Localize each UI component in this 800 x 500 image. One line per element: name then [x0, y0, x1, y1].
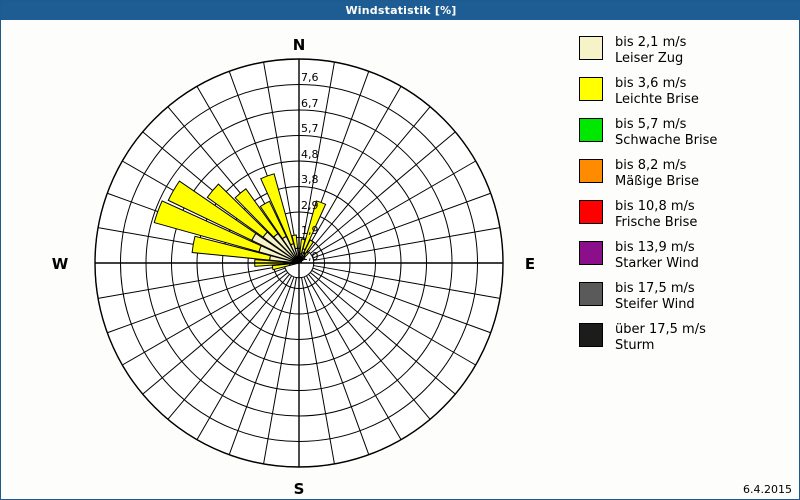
date-stamp: 6.4.2015 — [743, 483, 792, 496]
legend-swatch — [579, 159, 603, 183]
legend-item[interactable]: bis 3,6 m/sLeichte Brise — [579, 76, 789, 108]
legend-speed: bis 8,2 m/s — [615, 158, 686, 173]
legend-label: bis 5,7 m/sSchwache Brise — [615, 117, 717, 149]
radial-tick-label: 6,7 — [301, 97, 335, 110]
wind-rose-plot: N E S W 1,01,92,93,84,85,76,77,6 — [1, 20, 566, 500]
legend-name: Sturm — [615, 338, 706, 354]
wind-speed-legend: bis 2,1 m/sLeiser Zugbis 3,6 m/sLeichte … — [579, 35, 789, 363]
legend-item[interactable]: bis 8,2 m/sMäßige Brise — [579, 158, 789, 190]
page-title: Windstatistik [%] — [345, 4, 456, 17]
legend-name: Schwache Brise — [615, 133, 717, 149]
legend-label: über 17,5 m/sSturm — [615, 322, 706, 354]
legend-item[interactable]: über 17,5 m/sSturm — [579, 322, 789, 354]
legend-speed: bis 2,1 m/s — [615, 35, 686, 50]
windstatistik-window: Windstatistik [%] N E S W 1,01,92,93,84,… — [0, 0, 800, 500]
radial-tick-label: 1,9 — [301, 224, 335, 237]
legend-speed: bis 10,8 m/s — [615, 199, 695, 214]
legend-swatch — [579, 241, 603, 265]
legend-label: bis 3,6 m/sLeichte Brise — [615, 76, 699, 108]
legend-swatch — [579, 282, 603, 306]
compass-label-west: W — [44, 255, 76, 273]
radial-tick-label: 1,0 — [301, 250, 335, 263]
legend-swatch — [579, 323, 603, 347]
radial-tick-label: 2,9 — [301, 199, 335, 212]
legend-name: Frische Brise — [615, 215, 697, 231]
legend-label: bis 2,1 m/sLeiser Zug — [615, 35, 686, 67]
radial-tick-label: 5,7 — [301, 122, 335, 135]
legend-swatch — [579, 77, 603, 101]
legend-name: Mäßige Brise — [615, 174, 699, 190]
radial-tick-label: 3,8 — [301, 173, 335, 186]
window-title-bar: Windstatistik [%] — [1, 1, 800, 20]
legend-item[interactable]: bis 10,8 m/sFrische Brise — [579, 199, 789, 231]
legend-speed: bis 17,5 m/s — [615, 281, 695, 296]
legend-speed: bis 3,6 m/s — [615, 76, 686, 91]
legend-label: bis 10,8 m/sFrische Brise — [615, 199, 697, 231]
radial-tick-label: 7,6 — [301, 71, 335, 84]
legend-item[interactable]: bis 5,7 m/sSchwache Brise — [579, 117, 789, 149]
compass-label-east: E — [514, 255, 546, 273]
legend-swatch — [579, 36, 603, 60]
legend-name: Leichte Brise — [615, 92, 699, 108]
legend-item[interactable]: bis 13,9 m/sStarker Wind — [579, 240, 789, 272]
legend-item[interactable]: bis 17,5 m/sSteifer Wind — [579, 281, 789, 313]
legend-name: Starker Wind — [615, 256, 699, 272]
legend-speed: bis 13,9 m/s — [615, 240, 695, 255]
legend-name: Leiser Zug — [615, 51, 686, 67]
compass-label-north: N — [283, 36, 315, 54]
legend-label: bis 13,9 m/sStarker Wind — [615, 240, 699, 272]
legend-speed: über 17,5 m/s — [615, 322, 706, 337]
wind-rose-svg — [1, 20, 566, 500]
legend-swatch — [579, 200, 603, 224]
legend-speed: bis 5,7 m/s — [615, 117, 686, 132]
legend-label: bis 17,5 m/sSteifer Wind — [615, 281, 695, 313]
compass-label-south: S — [283, 480, 315, 498]
radial-tick-label: 4,8 — [301, 148, 335, 161]
legend-swatch — [579, 118, 603, 142]
legend-label: bis 8,2 m/sMäßige Brise — [615, 158, 699, 190]
legend-item[interactable]: bis 2,1 m/sLeiser Zug — [579, 35, 789, 67]
legend-name: Steifer Wind — [615, 297, 695, 313]
